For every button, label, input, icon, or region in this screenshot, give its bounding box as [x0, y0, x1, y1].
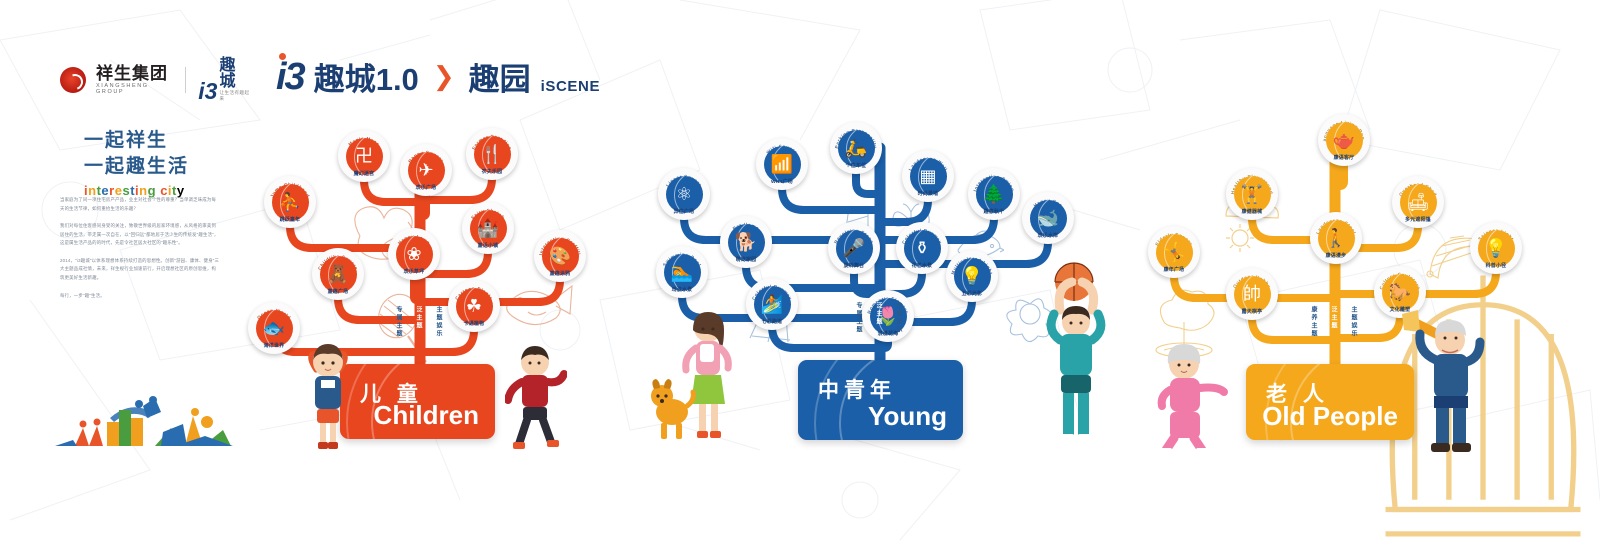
young-dog-illustration — [646, 372, 698, 444]
node-glyph-icon: 帥 — [1243, 285, 1261, 303]
scene-node-young-11[interactable]: Colorful Runway🏄七彩跑道 — [746, 278, 798, 330]
scene-node-young-7[interactable]: Pet Home🐕萌宠家园 — [720, 216, 772, 268]
node-label-cn: 童趣涂鸦 — [534, 270, 586, 277]
scene-node-young-6[interactable]: Happy Sea🐋欢乐水岸 — [1022, 192, 1074, 244]
i3-name-cn: 趣城 — [219, 58, 250, 90]
node-label-cn: 五彩光影 — [946, 290, 998, 297]
node-icon-disc: ⚱ — [904, 230, 941, 267]
node-label-cn: 跳跃童年 — [264, 216, 316, 223]
section-title-en: Children — [374, 400, 479, 431]
poster-stage: 祥生集团 XIANGSHENG GROUP i3 趣城 让生活有趣起来 一起祥生… — [0, 0, 1600, 545]
i3-tagline: 让生活有趣起来 — [219, 90, 250, 102]
node-glyph-icon: ❀ — [406, 245, 421, 263]
scene-node-young-9[interactable]: Colorful Runway⚱花艺水景 — [896, 222, 948, 274]
trunk-label-young-3: 主题娱乐 — [894, 302, 903, 334]
young-man-basketball-illustration — [1030, 262, 1110, 452]
body-copy: 当家庭为了同一项住宅房产产品，业主对社会个性的尊重？当单调乏味成为每天的生活节律… — [60, 196, 220, 309]
node-icon-disc: 🏰 — [470, 210, 507, 247]
scene-node-children-6[interactable]: Happy Lawn❀欢乐草坪 — [388, 228, 440, 280]
node-label-cn: 花艺水景 — [896, 262, 948, 269]
node-label-cn: 多元遮阳篷 — [1392, 216, 1444, 223]
i3-dot-icon — [279, 53, 286, 60]
scene-node-children-2[interactable]: Magic Maze卍魔幻迷宫 — [338, 130, 390, 182]
node-label-cn: WIFI广场 — [756, 178, 808, 185]
node-label-cn: 异性广场 — [658, 208, 710, 215]
node-glyph-icon: 🐟 — [263, 319, 285, 337]
node-label-cn: 康语漫步 — [1310, 252, 1362, 259]
section-title-en: Old People — [1262, 401, 1398, 432]
scene-node-young-12[interactable]: Multicolored Light💡五彩光影 — [946, 250, 998, 302]
trunk-label-old-2: 泛主题 — [1329, 306, 1338, 330]
node-icon-disc: ⚛ — [666, 176, 703, 213]
node-icon-disc: ❀ — [396, 236, 433, 273]
tree-young: Linear Square⚛异性广场Wifi Square📶WIFI广场Park… — [650, 0, 1080, 545]
header-i3-text: i3 — [276, 56, 304, 98]
slogan-block: 一起祥生 一起趣生活 interesting city — [84, 128, 189, 198]
scene-node-old-6[interactable]: Science Light💡科普小径 — [1470, 222, 1522, 274]
node-label-cn: 农夫乐园 — [466, 168, 518, 175]
xiangsheng-mark-icon — [60, 67, 86, 93]
node-label-cn: 时尚景墙 — [902, 190, 954, 197]
node-icon-disc: 🐟 — [256, 310, 293, 347]
node-icon-disc: 🏄 — [754, 286, 791, 323]
scene-node-children-1[interactable]: Jump Childhood⛹跳跃童年 — [264, 176, 316, 228]
section-title-cn: 中青年 — [818, 374, 896, 404]
child-boy-illustration — [505, 332, 567, 454]
node-label-cn: 旋转舞台 — [828, 262, 880, 269]
node-icon-disc: 卍 — [346, 138, 383, 175]
trunk-label-children-2: 泛主题 — [414, 306, 423, 330]
node-glyph-icon: ✈ — [418, 161, 433, 179]
child-girl-illustration — [298, 330, 358, 455]
i3-mark: i3 — [198, 81, 217, 102]
node-label-cn: 童趣广场 — [312, 288, 364, 295]
node-label-cn: 七彩跑道 — [746, 318, 798, 325]
scene-node-old-7[interactable]: Outdoor Hobby帥露天棋亭 — [1226, 268, 1278, 320]
node-glyph-icon: 卍 — [355, 147, 373, 165]
xiangsheng-wordmark: 祥生集团 XIANGSHENG GROUP — [96, 65, 173, 95]
header-i3-mark: i3 — [276, 58, 304, 96]
node-glyph-icon: 💡 — [1485, 239, 1507, 257]
node-glyph-icon: 🏋 — [1241, 185, 1263, 203]
section-title-card-children[interactable]: 儿 童Children — [340, 364, 495, 439]
node-icon-disc: 🎨 — [542, 238, 579, 275]
scene-node-old-4[interactable]: Landscape Stool🚶康语漫步 — [1310, 212, 1362, 264]
body-paragraph: 每行，一步"趣"生活。 — [60, 292, 220, 301]
node-glyph-icon: 🛵 — [845, 139, 867, 157]
node-label-cn: 康语客厅 — [1318, 154, 1370, 161]
body-paragraph: 当家庭为了同一项住宅房产产品，业主对社会个性的尊重？当单调乏味成为每天的生活节律… — [60, 196, 220, 213]
scene-node-children-7[interactable]: Fairy Sketch🏰童话小镇 — [462, 202, 514, 254]
scene-node-children-4[interactable]: Farmer Paradise🍴农夫乐园 — [466, 128, 518, 180]
scene-node-young-4[interactable]: Landscape Wall▦时尚景墙 — [902, 150, 954, 202]
section-title-card-old[interactable]: 老 人Old People — [1246, 364, 1414, 440]
node-icon-disc: 🚶 — [1318, 220, 1355, 257]
i3-sub-logo: i3 趣城 让生活有趣起来 — [198, 58, 250, 102]
node-label-cn: 科普小径 — [1470, 262, 1522, 269]
trunk-label-young-2: 泛主题 — [874, 302, 883, 326]
node-label-cn: 海洋世界 — [248, 342, 300, 349]
node-icon-disc: 帥 — [1234, 276, 1271, 313]
body-paragraph: 我们对每位住客感同身受的关注，致敬世界级的居家环境感，从风格的审美到居住的生活，… — [60, 222, 220, 248]
scene-node-young-10[interactable]: Swimming Pool🏊戏波水景 — [656, 246, 708, 298]
scene-node-young-1[interactable]: Linear Square⚛异性广场 — [658, 168, 710, 220]
node-label-cn: 欢乐草坪 — [388, 268, 440, 275]
scene-node-children-10[interactable]: Interesting Graffiti🎨童趣涂鸦 — [534, 230, 586, 282]
tree-old: Language Living Room🫖康语客厅Healthy Playgro… — [1130, 0, 1560, 545]
trunk-label-old-3: 主题娱乐 — [1349, 306, 1358, 338]
node-icon-disc: 🫖 — [1326, 122, 1363, 159]
node-icon-disc: 🛋 — [1400, 184, 1437, 221]
node-icon-disc: 🌲 — [976, 176, 1013, 213]
node-label-cn: 趣意秋千 — [968, 208, 1020, 215]
scene-node-old-2[interactable]: Healthy Playground🏋康健器械 — [1226, 168, 1278, 220]
left-info-panel: 祥生集团 XIANGSHENG GROUP i3 趣城 让生活有趣起来 一起祥生… — [0, 0, 250, 545]
slogan-line-1: 一起祥生 — [84, 128, 189, 154]
node-glyph-icon: 🐕 — [735, 233, 757, 251]
node-glyph-icon: 🏰 — [477, 219, 499, 237]
node-label-cn: 露天棋亭 — [1226, 308, 1278, 315]
node-glyph-icon: 🎤 — [843, 239, 865, 257]
node-label-cn: 康健器械 — [1226, 208, 1278, 215]
node-icon-disc: 💡 — [954, 258, 991, 295]
node-label-cn: 浪漫花海 — [862, 330, 914, 337]
scene-node-young-13[interactable]: Romantic Flowers🌷浪漫花海 — [862, 290, 914, 342]
section-title-card-young[interactable]: 中青年Young — [798, 360, 963, 440]
node-glyph-icon: 🎨 — [549, 247, 571, 265]
old-woman-illustration — [1150, 338, 1230, 456]
node-icon-disc: 🎤 — [836, 230, 873, 267]
trunk-label-children-1: 专属主题 — [394, 306, 403, 338]
node-label-cn: 戏波水景 — [656, 286, 708, 293]
body-paragraph: 2014，"i3趣城"以体系理想体系持续打造的思想性。创新"游园、康体、健身"三… — [60, 257, 220, 283]
node-label-cn: 欢乐广场 — [400, 184, 452, 191]
node-glyph-icon: 🐋 — [1037, 209, 1059, 227]
header-next-cn: 趣园 — [469, 54, 531, 99]
node-icon-disc: ✈ — [408, 152, 445, 189]
footer-colorful-logo — [55, 388, 240, 450]
node-glyph-icon: 🧸 — [327, 265, 349, 283]
node-glyph-icon: 🏊 — [671, 263, 693, 281]
node-glyph-icon: 🌲 — [983, 185, 1005, 203]
node-icon-disc: 🍴 — [474, 136, 511, 173]
node-icon-disc: 🐋 — [1030, 200, 1067, 237]
node-icon-disc: 🐕 — [728, 224, 765, 261]
old-man-trumpet-illustration — [1398, 288, 1488, 458]
node-label-cn: 魔幻迷宫 — [338, 170, 390, 177]
node-icon-disc: 💡 — [1478, 230, 1515, 267]
group-name-cn: 祥生集团 — [96, 65, 173, 82]
node-icon-disc: ▦ — [910, 158, 947, 195]
scene-node-children-9[interactable]: Cartoon Plants☘卡通植物 — [448, 280, 500, 332]
scene-node-old-1[interactable]: Language Living Room🫖康语客厅 — [1318, 114, 1370, 166]
node-glyph-icon: ▦ — [919, 167, 936, 185]
node-glyph-icon: 💡 — [961, 267, 983, 285]
logo-divider — [185, 67, 186, 93]
group-name-en: XIANGSHENG GROUP — [96, 84, 173, 95]
node-glyph-icon: 📶 — [771, 155, 793, 173]
node-icon-disc: 📶 — [764, 146, 801, 183]
node-label-cn: 卡通植物 — [448, 320, 500, 327]
node-label-cn: 萌宠家园 — [720, 256, 772, 263]
scene-node-young-3[interactable]: Parking Personality🛵个性车位 — [830, 122, 882, 174]
node-glyph-icon: 🍴 — [481, 145, 503, 163]
scene-node-young-2[interactable]: Wifi Square📶WIFI广场 — [756, 138, 808, 190]
node-icon-disc: 🤸 — [1156, 234, 1193, 271]
scene-node-young-8[interactable]: Revolving Stage🎤旋转舞台 — [828, 222, 880, 274]
scene-node-old-5[interactable]: Elderly Square🤸康年广场 — [1148, 226, 1200, 278]
node-glyph-icon: ☘ — [466, 297, 482, 315]
node-glyph-icon: ⚱ — [914, 239, 929, 257]
trunk-label-young-1: 专属主题 — [854, 302, 863, 334]
node-label-cn: 欢乐水岸 — [1022, 232, 1074, 239]
chevron-right-icon: ❯ — [433, 61, 455, 92]
node-label-cn: 童话小镇 — [462, 242, 514, 249]
section-title-en: Young — [868, 401, 947, 432]
node-icon-disc: 🏋 — [1234, 176, 1271, 213]
brand-logo-row: 祥生集团 XIANGSHENG GROUP i3 趣城 让生活有趣起来 — [60, 58, 250, 102]
node-label-cn: 个性车位 — [830, 162, 882, 169]
node-icon-disc: 🧸 — [320, 256, 357, 293]
node-glyph-icon: ⛹ — [279, 193, 301, 211]
slogan-line-2: 一起趣生活 — [84, 154, 189, 180]
scene-node-children-5[interactable]: Childlike Square🧸童趣广场 — [312, 248, 364, 300]
trunk-label-children-3: 主题娱乐 — [434, 306, 443, 338]
node-icon-disc: ⛹ — [272, 184, 309, 221]
node-label-cn: 康年广场 — [1148, 266, 1200, 273]
header-next-en: iSCENE — [541, 78, 600, 95]
node-glyph-icon: 🤸 — [1163, 243, 1185, 261]
node-icon-disc: 🛵 — [838, 130, 875, 167]
header-title-cn: 趣城1.0 — [314, 54, 419, 99]
node-glyph-icon: ⚛ — [676, 185, 692, 203]
scene-node-old-3[interactable]: Overhead Shed🛋多元遮阳篷 — [1392, 176, 1444, 228]
node-icon-disc: ☘ — [456, 288, 493, 325]
page-title-header: i3 趣城1.0 ❯ 趣园 iSCENE — [276, 54, 600, 99]
node-glyph-icon: 🚶 — [1325, 229, 1347, 247]
trunk-label-old-1: 康养主题 — [1309, 306, 1318, 338]
node-icon-disc: 🏊 — [664, 254, 701, 291]
node-glyph-icon: 🏄 — [761, 295, 783, 313]
node-glyph-icon: 🛋 — [1407, 193, 1430, 211]
scene-node-children-3[interactable]: Happy Square✈欢乐广场 — [400, 144, 452, 196]
scene-node-young-5[interactable]: Interesting Swing🌲趣意秋千 — [968, 168, 1020, 220]
node-glyph-icon: 🫖 — [1333, 131, 1355, 149]
scene-node-children-8[interactable]: Ocean World🐟海洋世界 — [248, 302, 300, 354]
